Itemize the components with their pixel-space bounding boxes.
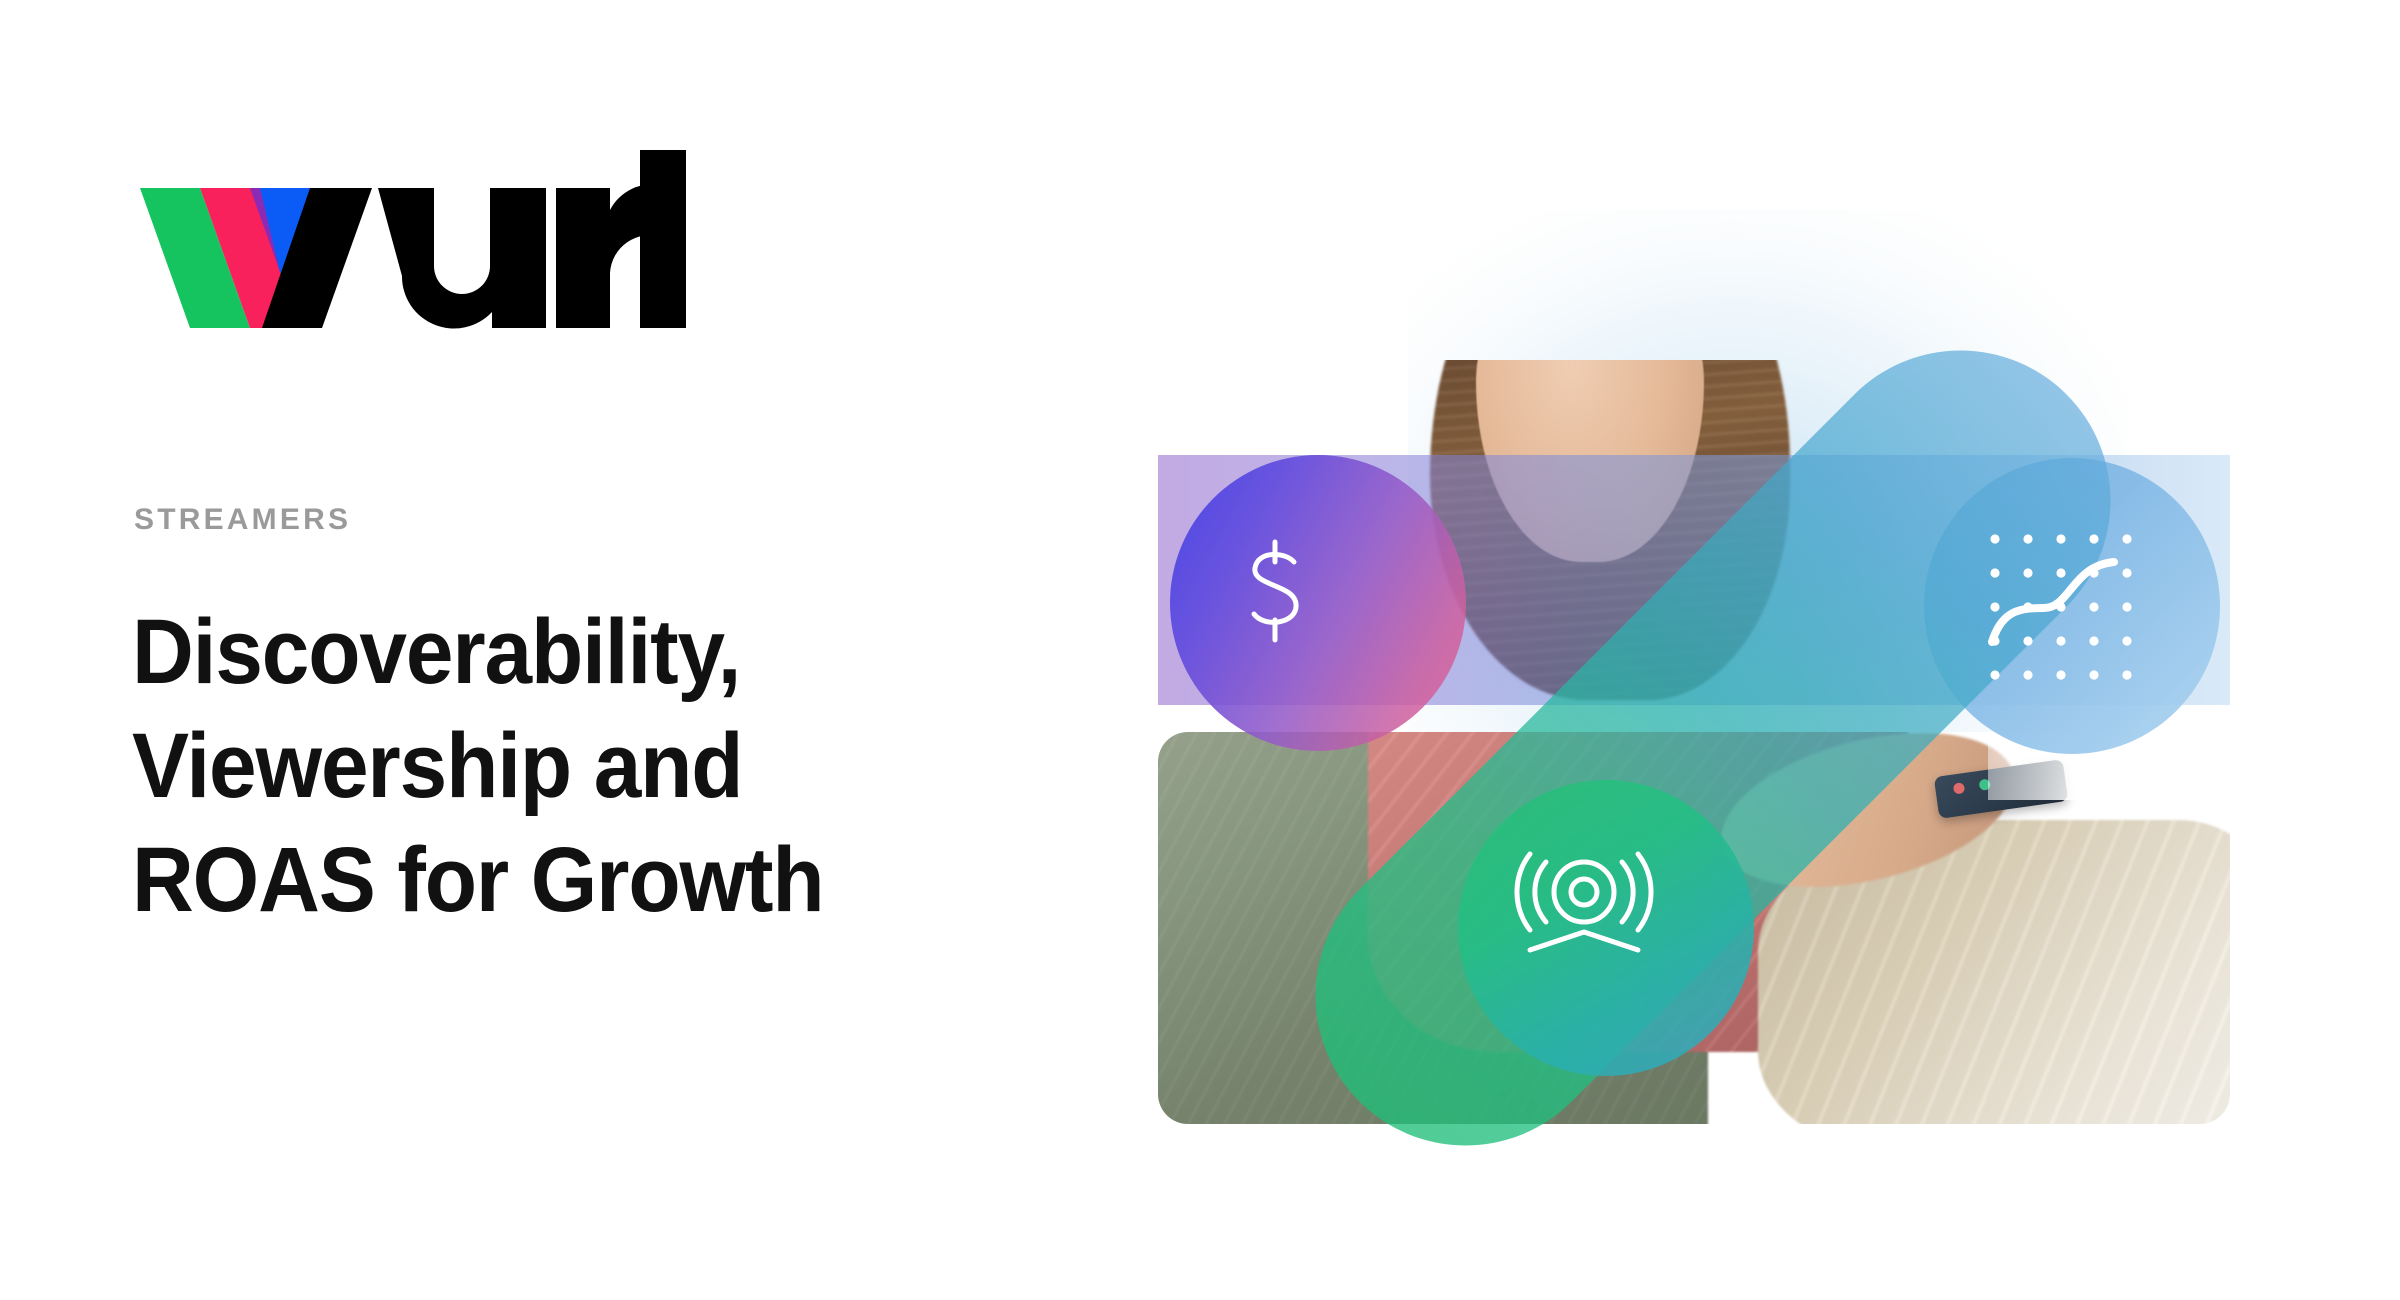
wurl-logo	[132, 150, 692, 330]
hero-photo-content	[1158, 732, 2230, 1124]
hero-visual	[1158, 180, 2230, 1124]
headline-line-3: ROAS for Growth	[132, 823, 1006, 937]
slide-root: STREAMERS Discoverability, Viewership an…	[0, 0, 2400, 1300]
page-title: Discoverability, Viewership and ROAS for…	[132, 595, 1006, 937]
logo-letter-u	[378, 188, 546, 329]
photo-highlight	[1988, 732, 2230, 800]
eyebrow-label: STREAMERS	[134, 505, 351, 535]
headline-line-2: Viewership and	[132, 709, 1006, 823]
remote-button-red	[1953, 782, 1965, 794]
hero-photo-upper-content	[1158, 360, 2230, 732]
hero-photo-upper	[1158, 360, 2230, 732]
logo-letter-l	[640, 150, 686, 328]
hero-photo	[1158, 732, 2230, 1124]
headline-line-1: Discoverability,	[132, 595, 1006, 709]
